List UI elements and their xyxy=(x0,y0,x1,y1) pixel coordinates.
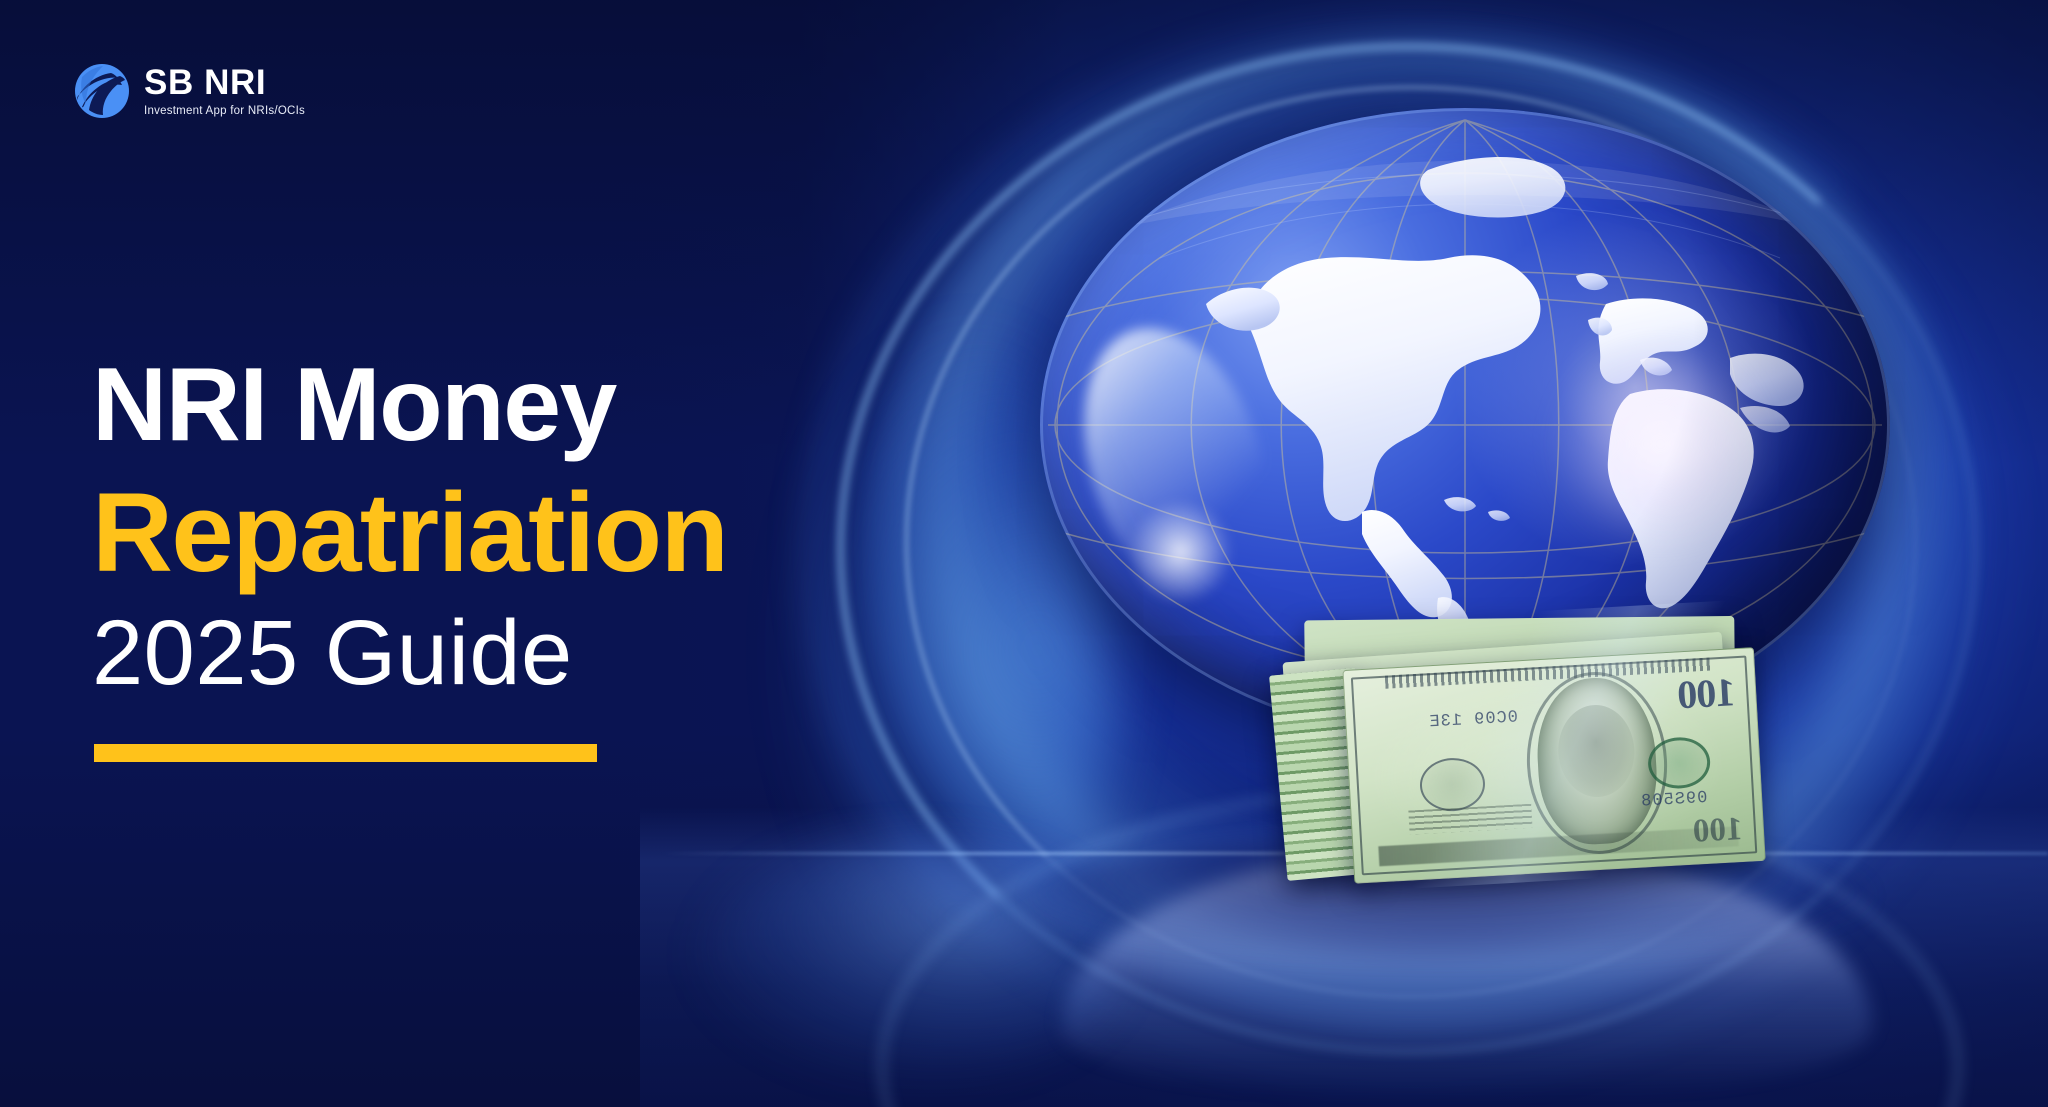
headline-line-2: Repatriation xyxy=(92,476,932,590)
denomination-100-top-right: 100 xyxy=(1677,668,1737,718)
headline-block: NRI Money Repatriation 2025 Guide xyxy=(92,352,932,762)
headline-underline-bar xyxy=(94,744,597,762)
us-hundred-dollar-bills: 100 100 0C09 13E 09S508 xyxy=(1278,599,1772,895)
headline-line-3: 2025 Guide xyxy=(92,606,932,702)
globe-swirl-icon xyxy=(74,63,130,119)
logo-text-block: SB NRI Investment App for NRIs/OCIs xyxy=(144,65,305,117)
banner-root: 100 100 0C09 13E 09S508 SB NRI Investmen… xyxy=(0,0,2048,1107)
headline-line-1: NRI Money xyxy=(92,352,932,458)
sb-nri-logo[interactable]: SB NRI Investment App for NRIs/OCIs xyxy=(74,63,305,119)
banknote-front: 100 100 0C09 13E 09S508 xyxy=(1342,647,1765,884)
banknote-serial-lower: 09S508 xyxy=(1640,789,1708,812)
brand-tagline: Investment App for NRIs/OCIs xyxy=(144,105,305,117)
brand-name: SB NRI xyxy=(144,65,305,100)
